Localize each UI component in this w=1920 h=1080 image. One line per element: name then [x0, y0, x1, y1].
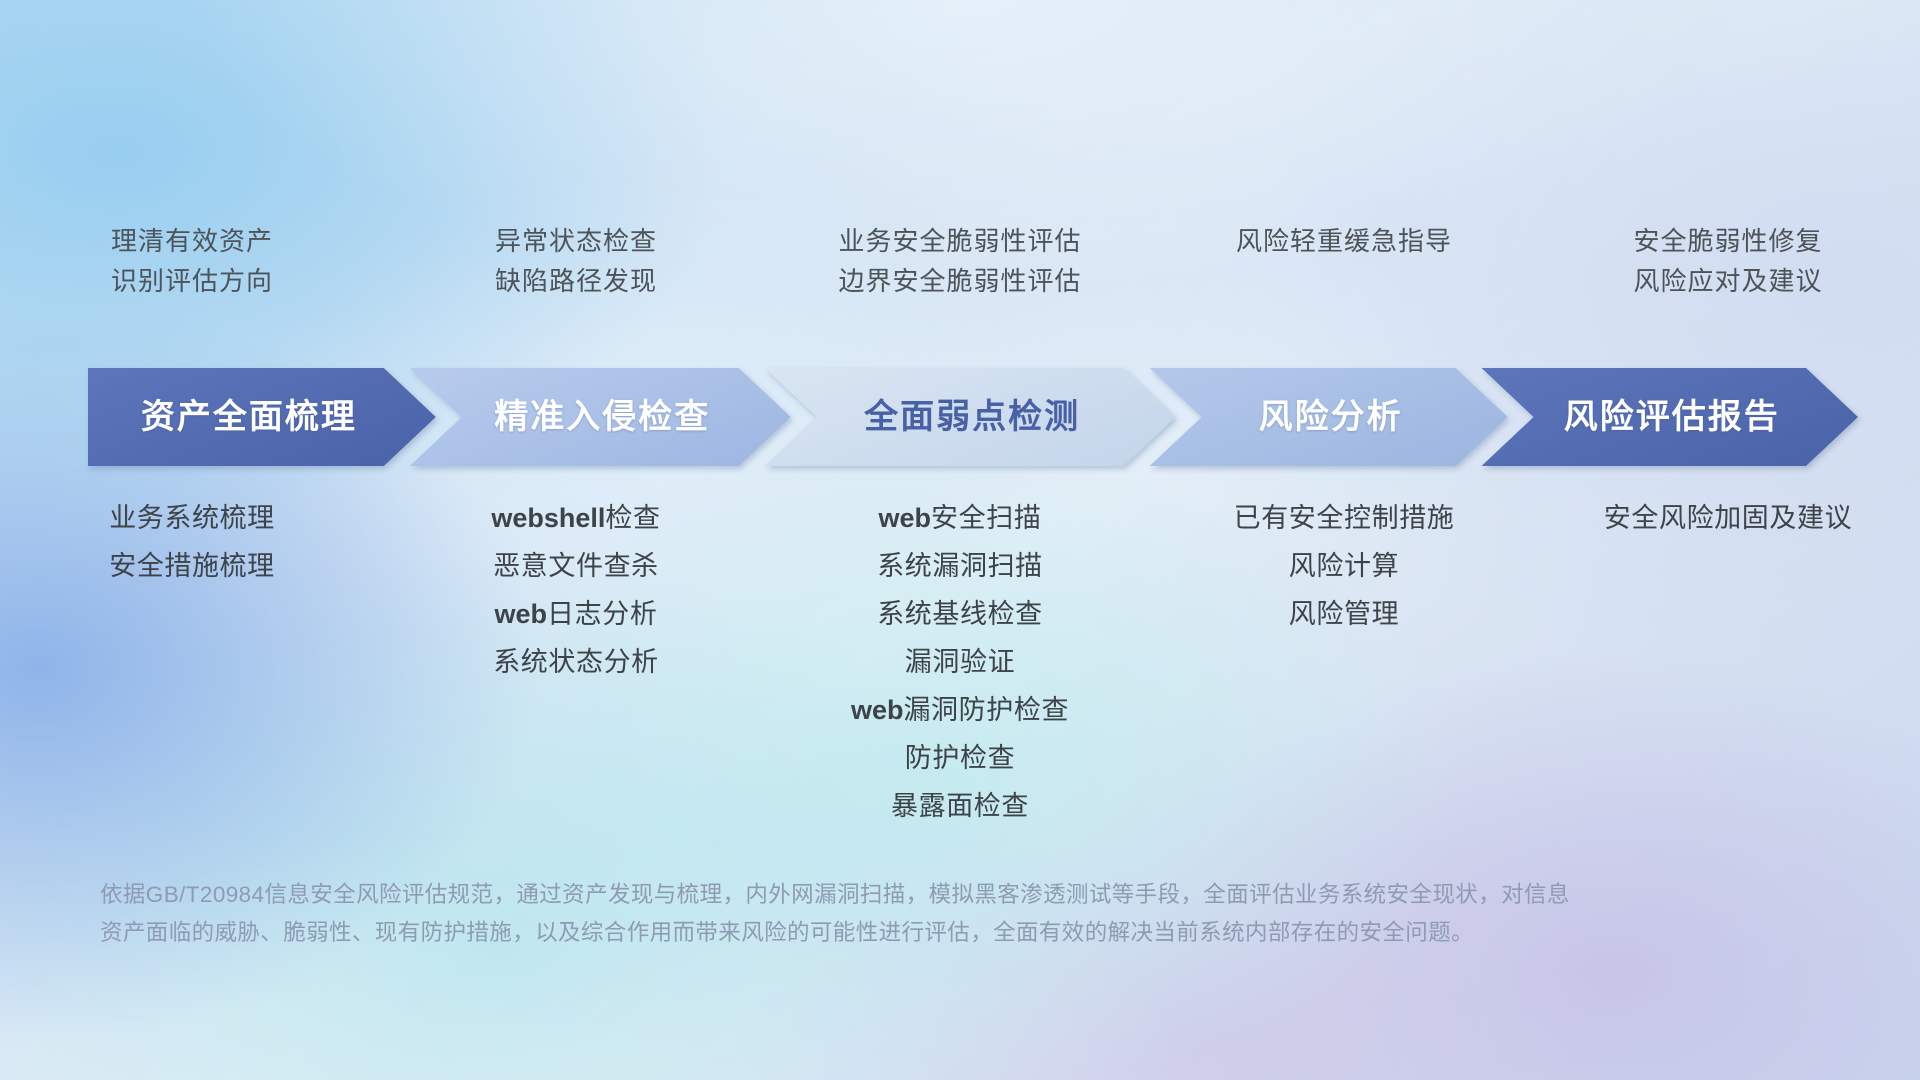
top-item: 理清有效资产 — [111, 228, 273, 254]
bottom-column-4: 已有安全控制措施风险计算风险管理 — [1152, 505, 1536, 628]
bottom-item: web漏洞防护检查 — [851, 697, 1069, 724]
bottom-item: 安全风险加固及建议 — [1604, 505, 1852, 532]
infographic-canvas: 理清有效资产识别评估方向异常状态检查缺陷路径发现业务安全脆弱性评估边界安全脆弱性… — [0, 0, 1920, 1080]
bottom-column-2: webshell检查恶意文件查杀web日志分析系统状态分析 — [384, 505, 768, 676]
bottom-item-text: 恶意文件查杀 — [493, 551, 659, 581]
bottom-item-text: 系统漏洞扫描 — [877, 551, 1043, 581]
bottom-item: 已有安全控制措施 — [1234, 505, 1455, 532]
chevron-stage-4[interactable]: 风险分析 — [1150, 368, 1508, 466]
footnote-line-2: 资产面临的威胁、脆弱性、现有防护措施，以及综合作用而带来风险的可能性进行评估，全… — [100, 914, 1760, 952]
bottom-activities-row: 业务系统梳理安全措施梳理webshell检查恶意文件查杀web日志分析系统状态分… — [0, 505, 1920, 820]
chevron-label: 风险评估报告 — [1564, 400, 1780, 434]
chevron-stage-3[interactable]: 全面弱点检测 — [765, 368, 1176, 466]
bottom-item-text: 系统基线检查 — [877, 599, 1043, 629]
chevron-label: 全面弱点检测 — [864, 400, 1080, 434]
bottom-item: webshell检查 — [491, 505, 660, 532]
footnote: 依据GB/T20984信息安全风险评估规范，通过资产发现与梳理，内外网漏洞扫描，… — [100, 876, 1760, 952]
bottom-item-latin: webshell — [491, 503, 605, 533]
bottom-item-text: 安全风险加固及建议 — [1604, 503, 1852, 533]
bottom-item-text: 漏洞验证 — [905, 647, 1015, 677]
top-column-3: 业务安全脆弱性评估边界安全脆弱性评估 — [768, 228, 1152, 338]
bottom-item-text: 暴露面检查 — [891, 791, 1029, 821]
process-chevron-band: 资产全面梳理精准入侵检查全面弱点检测风险分析风险评估报告 — [88, 368, 1858, 466]
top-outcomes-row: 理清有效资产识别评估方向异常状态检查缺陷路径发现业务安全脆弱性评估边界安全脆弱性… — [0, 228, 1920, 338]
chevron-label: 风险分析 — [1259, 400, 1403, 434]
bottom-item-text: 业务系统梳理 — [109, 503, 275, 533]
bottom-item-text: 安全扫描 — [931, 503, 1041, 533]
bottom-item-text: 风险管理 — [1289, 599, 1399, 629]
bottom-item: 防护检查 — [905, 745, 1015, 772]
bottom-item: 恶意文件查杀 — [493, 553, 659, 580]
bottom-item-text: 系统状态分析 — [493, 647, 659, 677]
bottom-item: 业务系统梳理 — [109, 505, 275, 532]
bottom-item: 风险管理 — [1289, 601, 1399, 628]
top-item: 风险轻重缓急指导 — [1236, 228, 1452, 254]
bottom-item: 系统状态分析 — [493, 649, 659, 676]
chevron-stage-2[interactable]: 精准入侵检查 — [410, 368, 791, 466]
top-column-1: 理清有效资产识别评估方向 — [0, 228, 384, 338]
chevron-stage-1[interactable]: 资产全面梳理 — [88, 368, 436, 466]
top-column-2: 异常状态检查缺陷路径发现 — [384, 228, 768, 338]
top-item: 边界安全脆弱性评估 — [838, 268, 1081, 294]
top-item: 风险应对及建议 — [1633, 268, 1822, 294]
bottom-item: 漏洞验证 — [905, 649, 1015, 676]
chevron-stage-5[interactable]: 风险评估报告 — [1482, 368, 1858, 466]
bottom-item-text: 安全措施梳理 — [109, 551, 275, 581]
top-column-5: 安全脆弱性修复风险应对及建议 — [1536, 228, 1920, 338]
bottom-item-text: 日志分析 — [547, 599, 657, 629]
bottom-item-text: 检查 — [605, 503, 660, 533]
bottom-item-text: 漏洞防护检查 — [903, 695, 1069, 725]
chevron-label: 资产全面梳理 — [141, 400, 357, 434]
top-item: 安全脆弱性修复 — [1633, 228, 1822, 254]
bottom-item: 系统漏洞扫描 — [877, 553, 1043, 580]
bottom-column-1: 业务系统梳理安全措施梳理 — [0, 505, 384, 580]
bottom-item: 风险计算 — [1289, 553, 1399, 580]
bottom-item-latin: web — [851, 695, 904, 725]
bottom-item: web安全扫描 — [879, 505, 1042, 532]
top-item: 缺陷路径发现 — [495, 268, 657, 294]
bottom-item-text: 风险计算 — [1289, 551, 1399, 581]
bottom-column-5: 安全风险加固及建议 — [1536, 505, 1920, 532]
bottom-item-latin: web — [879, 503, 932, 533]
bottom-item: 安全措施梳理 — [109, 553, 275, 580]
top-item: 异常状态检查 — [495, 228, 657, 254]
top-item: 识别评估方向 — [111, 268, 273, 294]
bottom-item-text: 已有安全控制措施 — [1234, 503, 1455, 533]
bottom-item-text: 防护检查 — [905, 743, 1015, 773]
bottom-item: 系统基线检查 — [877, 601, 1043, 628]
bottom-item: 暴露面检查 — [891, 793, 1029, 820]
top-item: 业务安全脆弱性评估 — [838, 228, 1081, 254]
chevron-label: 精准入侵检查 — [494, 400, 710, 434]
bottom-column-3: web安全扫描系统漏洞扫描系统基线检查漏洞验证web漏洞防护检查防护检查暴露面检… — [768, 505, 1152, 820]
bottom-item-latin: web — [495, 599, 548, 629]
top-column-4: 风险轻重缓急指导 — [1152, 228, 1536, 338]
footnote-line-1: 依据GB/T20984信息安全风险评估规范，通过资产发现与梳理，内外网漏洞扫描，… — [100, 876, 1760, 914]
bottom-item: web日志分析 — [495, 601, 658, 628]
